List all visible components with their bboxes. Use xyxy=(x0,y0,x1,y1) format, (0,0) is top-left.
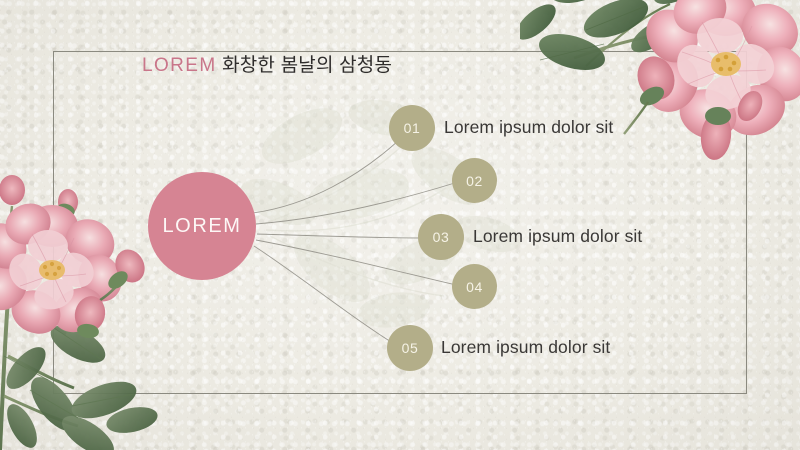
node-label-03: Lorem ipsum dolor sit xyxy=(473,226,642,247)
node-number-01: 01 xyxy=(404,120,421,136)
connector-to-05 xyxy=(254,246,396,345)
node-number-04: 04 xyxy=(466,279,483,295)
connector-to-03 xyxy=(257,234,422,238)
node-bubble-05[interactable]: 05 xyxy=(387,325,433,371)
node-number-05: 05 xyxy=(402,340,419,356)
connector-to-01 xyxy=(253,141,398,213)
node-label-05: Lorem ipsum dolor sit xyxy=(441,337,610,358)
center-hub-label: LOREM xyxy=(162,215,241,238)
node-bubble-04[interactable]: 04 xyxy=(452,264,497,309)
rose-illustration-left xyxy=(0,168,162,450)
rose-illustration-top-right xyxy=(520,0,800,166)
node-number-02: 02 xyxy=(466,173,483,189)
slide-canvas: LOREM 화창한 봄날의 삼청동 LOREM 01 Lorem ipsum d… xyxy=(0,0,800,450)
page-title: LOREM 화창한 봄날의 삼청동 xyxy=(142,53,402,78)
center-hub-circle[interactable]: LOREM xyxy=(148,172,256,280)
node-bubble-02[interactable]: 02 xyxy=(452,158,497,203)
node-bubble-03[interactable]: 03 xyxy=(418,214,464,260)
title-korean: 화창한 봄날의 삼청동 xyxy=(222,55,392,76)
node-number-03: 03 xyxy=(433,229,450,245)
title-lorem: LOREM xyxy=(142,55,217,76)
node-label-01: Lorem ipsum dolor sit xyxy=(444,117,613,138)
node-bubble-01[interactable]: 01 xyxy=(389,105,435,151)
